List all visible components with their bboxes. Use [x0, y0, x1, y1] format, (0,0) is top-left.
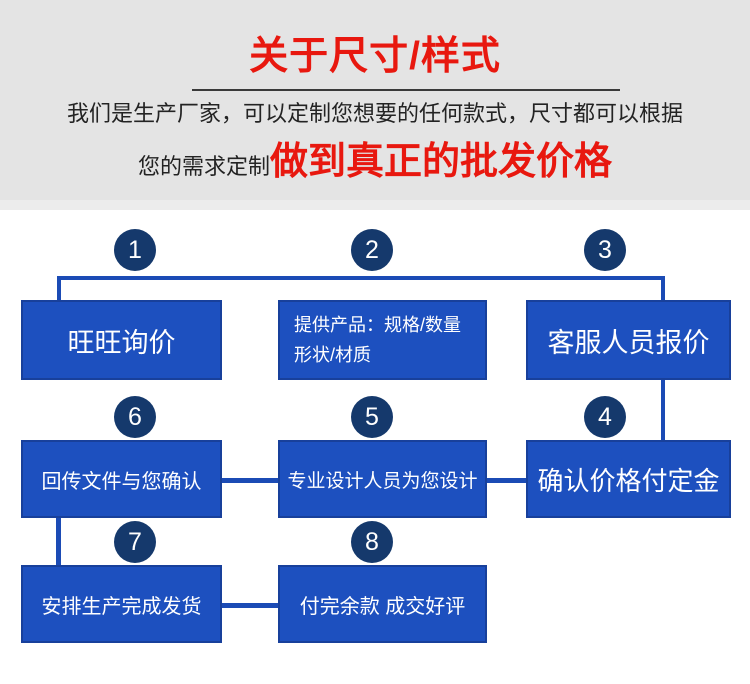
- subtitle-line-2-prefix: 您的需求定制: [138, 154, 270, 179]
- subtitle-line-2-highlight: 做到真正的批发价格: [270, 141, 612, 183]
- subtitle-line-1: 我们是生产厂家，可以定制您想要的任何款式，尺寸都可以根据: [0, 97, 750, 131]
- step-node-3[interactable]: 客服人员报价: [526, 300, 731, 380]
- step-node-1[interactable]: 旺旺询价: [21, 300, 222, 380]
- step-node-5-label: 专业设计人员为您设计: [280, 466, 485, 493]
- connector-step6-to-step5: [222, 478, 279, 483]
- step-node-2[interactable]: 提供产品：规格/数量 形状/材质: [278, 300, 487, 380]
- connector-drop-left: [57, 276, 61, 302]
- process-flowchart: 1 旺旺询价 2 提供产品：规格/数量 形状/材质 3 客服人员报价 6 回传文…: [0, 210, 750, 684]
- connector-top-bus: [57, 276, 665, 280]
- step-badge-1: 1: [114, 229, 156, 271]
- step-node-8[interactable]: 付完余款 成交好评: [278, 565, 487, 643]
- step-badge-7: 7: [114, 521, 156, 563]
- step-node-2-label: 提供产品：规格/数量 形状/材质: [280, 310, 485, 370]
- header-shadow-strip: [0, 200, 750, 210]
- step-badge-5: 5: [351, 396, 393, 438]
- step-node-8-label: 付完余款 成交好评: [280, 590, 485, 619]
- step-node-6-label: 回传文件与您确认: [23, 465, 220, 494]
- page-title: 关于尺寸/样式: [0, 32, 750, 82]
- step-node-3-label: 客服人员报价: [528, 321, 729, 360]
- step-badge-4: 4: [584, 396, 626, 438]
- step-badge-8: 8: [351, 521, 393, 563]
- step-node-7[interactable]: 安排生产完成发货: [21, 565, 222, 643]
- step-badge-6: 6: [114, 396, 156, 438]
- subtitle-line-2: 您的需求定制做到真正的批发价格: [0, 138, 750, 194]
- connector-drop-right: [661, 276, 665, 302]
- step-node-5[interactable]: 专业设计人员为您设计: [278, 440, 487, 518]
- step-badge-3: 3: [584, 229, 626, 271]
- step-node-4[interactable]: 确认价格付定金: [526, 440, 731, 518]
- promo-banner-page: 关于尺寸/样式 我们是生产厂家，可以定制您想要的任何款式，尺寸都可以根据 您的需…: [0, 0, 750, 684]
- connector-step3-to-step4: [661, 380, 665, 442]
- connector-step7-to-step8: [222, 603, 279, 608]
- step-node-1-label: 旺旺询价: [23, 321, 220, 360]
- title-divider: [192, 89, 620, 91]
- step-badge-2: 2: [351, 229, 393, 271]
- step-node-6[interactable]: 回传文件与您确认: [21, 440, 222, 518]
- step-node-4-label: 确认价格付定金: [528, 461, 729, 498]
- step-node-7-label: 安排生产完成发货: [23, 590, 220, 619]
